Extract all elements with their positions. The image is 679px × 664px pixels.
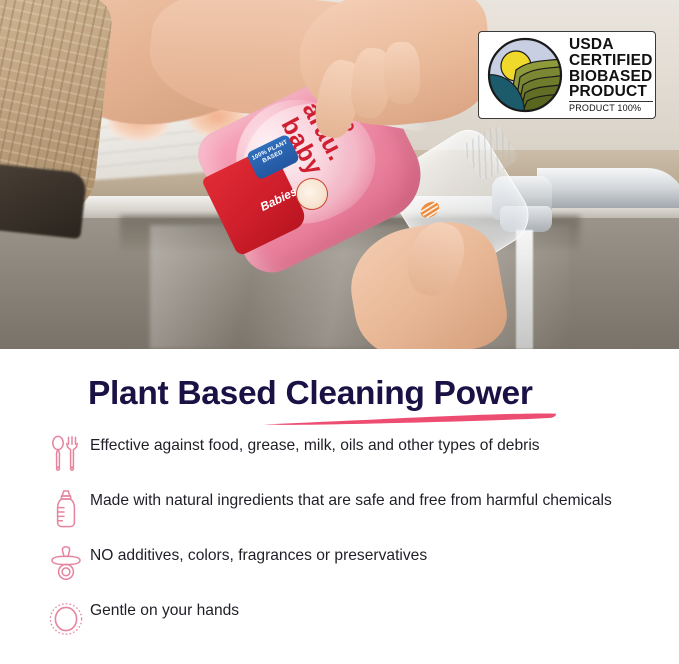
title-block: Plant Based Cleaning Power: [0, 349, 679, 413]
list-item: Effective against food, grease, milk, oi…: [0, 431, 679, 477]
badge-line-product: PRODUCT: [569, 84, 653, 100]
list-item: Made with natural ingredients that are s…: [0, 486, 679, 532]
usda-biobased-logo-icon: [486, 36, 564, 114]
list-item-label: Effective against food, grease, milk, oi…: [88, 431, 540, 458]
list-item-label: NO additives, colors, fragrances or pres…: [88, 541, 427, 568]
lifestyle-photo: 100% PLANT BASED Babies arau. baby: [0, 0, 679, 349]
page-title: Plant Based Cleaning Power: [88, 375, 679, 413]
badge-line-certified: CERTIFIED: [569, 53, 653, 69]
list-item-label: Gentle on your hands: [88, 596, 239, 623]
product-infographic: 100% PLANT BASED Babies arau. baby: [0, 0, 679, 664]
cream-jar-icon: [44, 596, 88, 642]
badge-line-biobased: BIOBASED: [569, 69, 653, 85]
pacifier-icon: [44, 541, 88, 587]
finger: [383, 41, 421, 104]
feature-list: Effective against food, grease, milk, oi…: [0, 413, 679, 642]
baby-bottle-icon: [44, 486, 88, 532]
list-item: NO additives, colors, fragrances or pres…: [0, 541, 679, 587]
usda-biobased-badge: USDA CERTIFIED BIOBASED PRODUCT PRODUCT …: [478, 31, 656, 119]
list-item: Gentle on your hands: [0, 596, 679, 642]
running-water: [516, 230, 533, 349]
title-underline-accent: [262, 411, 557, 426]
content-section: Plant Based Cleaning Power: [0, 349, 679, 664]
badge-line-usda: USDA: [569, 37, 653, 53]
badge-subtext: PRODUCT 100%: [569, 101, 653, 113]
sleeve-shadow: [0, 163, 87, 239]
faucet-neck: [537, 168, 679, 208]
list-item-label: Made with natural ingredients that are s…: [88, 486, 612, 513]
usda-badge-text: USDA CERTIFIED BIOBASED PRODUCT PRODUCT …: [564, 37, 653, 113]
spoon-fork-icon: [44, 431, 88, 477]
